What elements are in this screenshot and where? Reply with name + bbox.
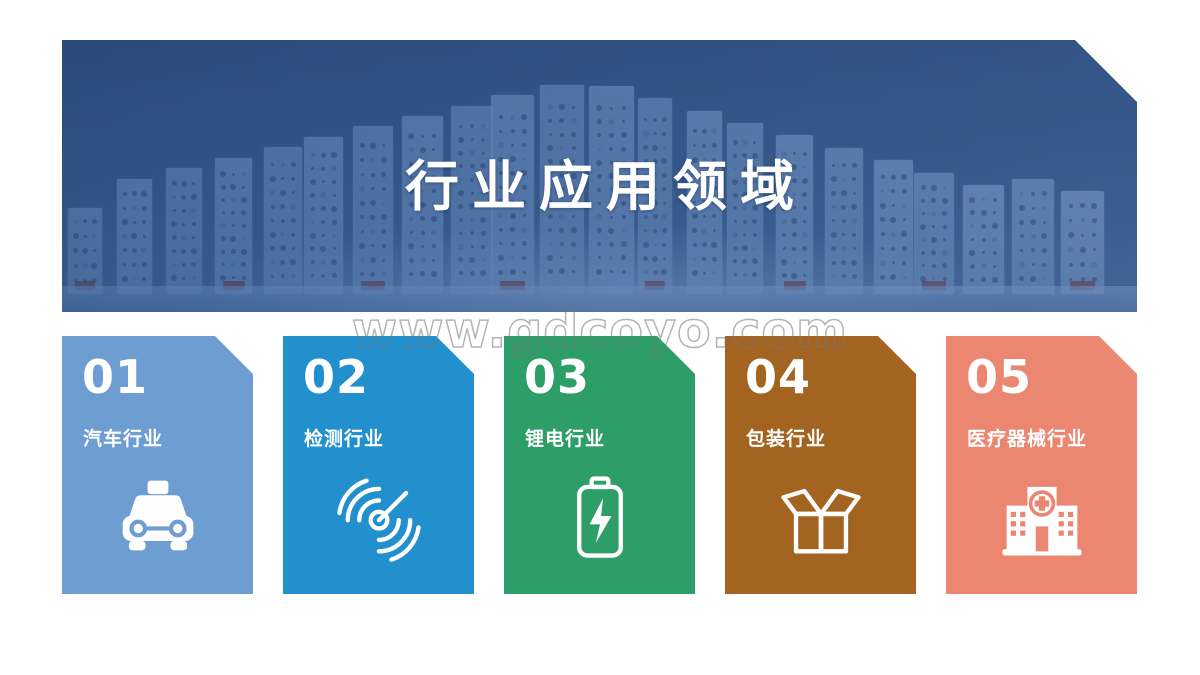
industry-card-05[interactable]: 05医疗器械行业 bbox=[946, 336, 1137, 594]
card-label: 包装行业 bbox=[746, 424, 826, 451]
card-number: 02 bbox=[303, 354, 369, 400]
card-label: 医疗器械行业 bbox=[967, 424, 1087, 451]
slide-root: 行业应用领域 01汽车行业02检测行业03锂电行业04包装行业05医疗器械行业 … bbox=[0, 0, 1200, 675]
open-box-icon bbox=[769, 464, 873, 568]
card-number: 05 bbox=[966, 354, 1032, 400]
card-number: 03 bbox=[524, 354, 590, 400]
industry-card-04[interactable]: 04包装行业 bbox=[725, 336, 916, 594]
industry-card-03[interactable]: 03锂电行业 bbox=[504, 336, 695, 594]
card-label: 检测行业 bbox=[304, 424, 384, 451]
industry-card-row: 01汽车行业02检测行业03锂电行业04包装行业05医疗器械行业 bbox=[62, 336, 1137, 594]
hospital-icon bbox=[990, 464, 1094, 568]
card-number: 01 bbox=[82, 354, 148, 400]
hero-banner: 行业应用领域 bbox=[62, 40, 1137, 312]
page-title: 行业应用领域 bbox=[62, 160, 1137, 214]
industry-card-02[interactable]: 02检测行业 bbox=[283, 336, 474, 594]
card-number: 04 bbox=[745, 354, 811, 400]
radar-detection-icon bbox=[327, 464, 431, 568]
battery-bolt-icon bbox=[548, 464, 652, 568]
card-label: 汽车行业 bbox=[83, 424, 163, 451]
car-icon bbox=[106, 464, 210, 568]
card-label: 锂电行业 bbox=[525, 424, 605, 451]
industry-card-01[interactable]: 01汽车行业 bbox=[62, 336, 253, 594]
